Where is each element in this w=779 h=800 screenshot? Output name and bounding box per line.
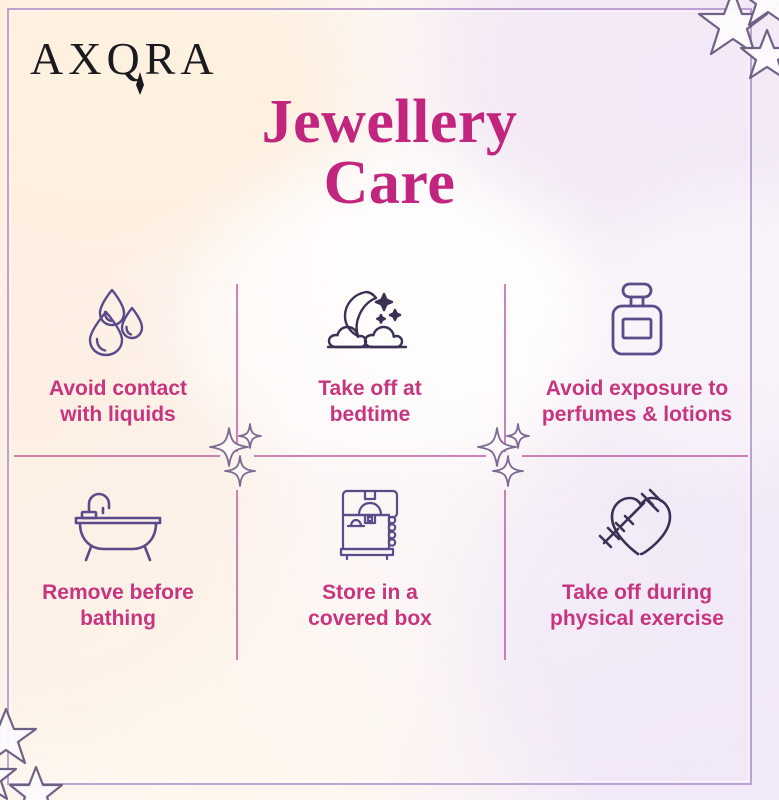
jewellery-box-icon [327, 484, 413, 562]
tips-grid: Avoid contact with liquids Take off at b… [0, 262, 779, 682]
tip-label: Take off at bedtime [318, 376, 421, 427]
jewellery-care-poster: AXQRA Jewellery Care [0, 0, 779, 800]
grid-divider-vertical [236, 284, 238, 452]
page-title-line2: Care [0, 153, 779, 214]
grid-divider-vertical [236, 490, 238, 660]
bathtub-icon [71, 484, 165, 562]
grid-divider-vertical [504, 284, 506, 452]
tip-label: Store in a covered box [308, 580, 432, 631]
tip-card-perfumes: Avoid exposure to perfumes & lotions [510, 280, 764, 427]
heart-dumbbell-icon [592, 484, 682, 562]
tip-card-avoid-liquids: Avoid contact with liquids [8, 280, 228, 427]
page-title-line1: Jewellery [262, 88, 518, 156]
tip-label: Avoid contact with liquids [49, 376, 187, 427]
brand-logo: AXQRA [30, 36, 219, 82]
tip-card-bedtime: Take off at bedtime [248, 280, 492, 427]
star-cluster-icon [0, 693, 90, 800]
brand-logo-text: AXQRA [30, 36, 219, 82]
tip-label: Take off during physical exercise [550, 580, 724, 631]
perfume-bottle-icon [601, 280, 673, 358]
tip-label: Remove before bathing [42, 580, 194, 631]
tip-card-bathing: Remove before bathing [8, 484, 228, 631]
moon-stars-cloud-icon [326, 280, 414, 358]
grid-divider-horizontal [14, 455, 220, 457]
tip-card-storage: Store in a covered box [248, 484, 492, 631]
grid-divider-horizontal [522, 455, 748, 457]
page-title: Jewellery Care [0, 92, 779, 214]
grid-divider-horizontal [254, 455, 486, 457]
tip-card-exercise: Take off during physical exercise [510, 484, 764, 631]
tip-label: Avoid exposure to perfumes & lotions [542, 376, 732, 427]
grid-divider-vertical [504, 490, 506, 660]
water-droplets-icon [80, 280, 156, 358]
